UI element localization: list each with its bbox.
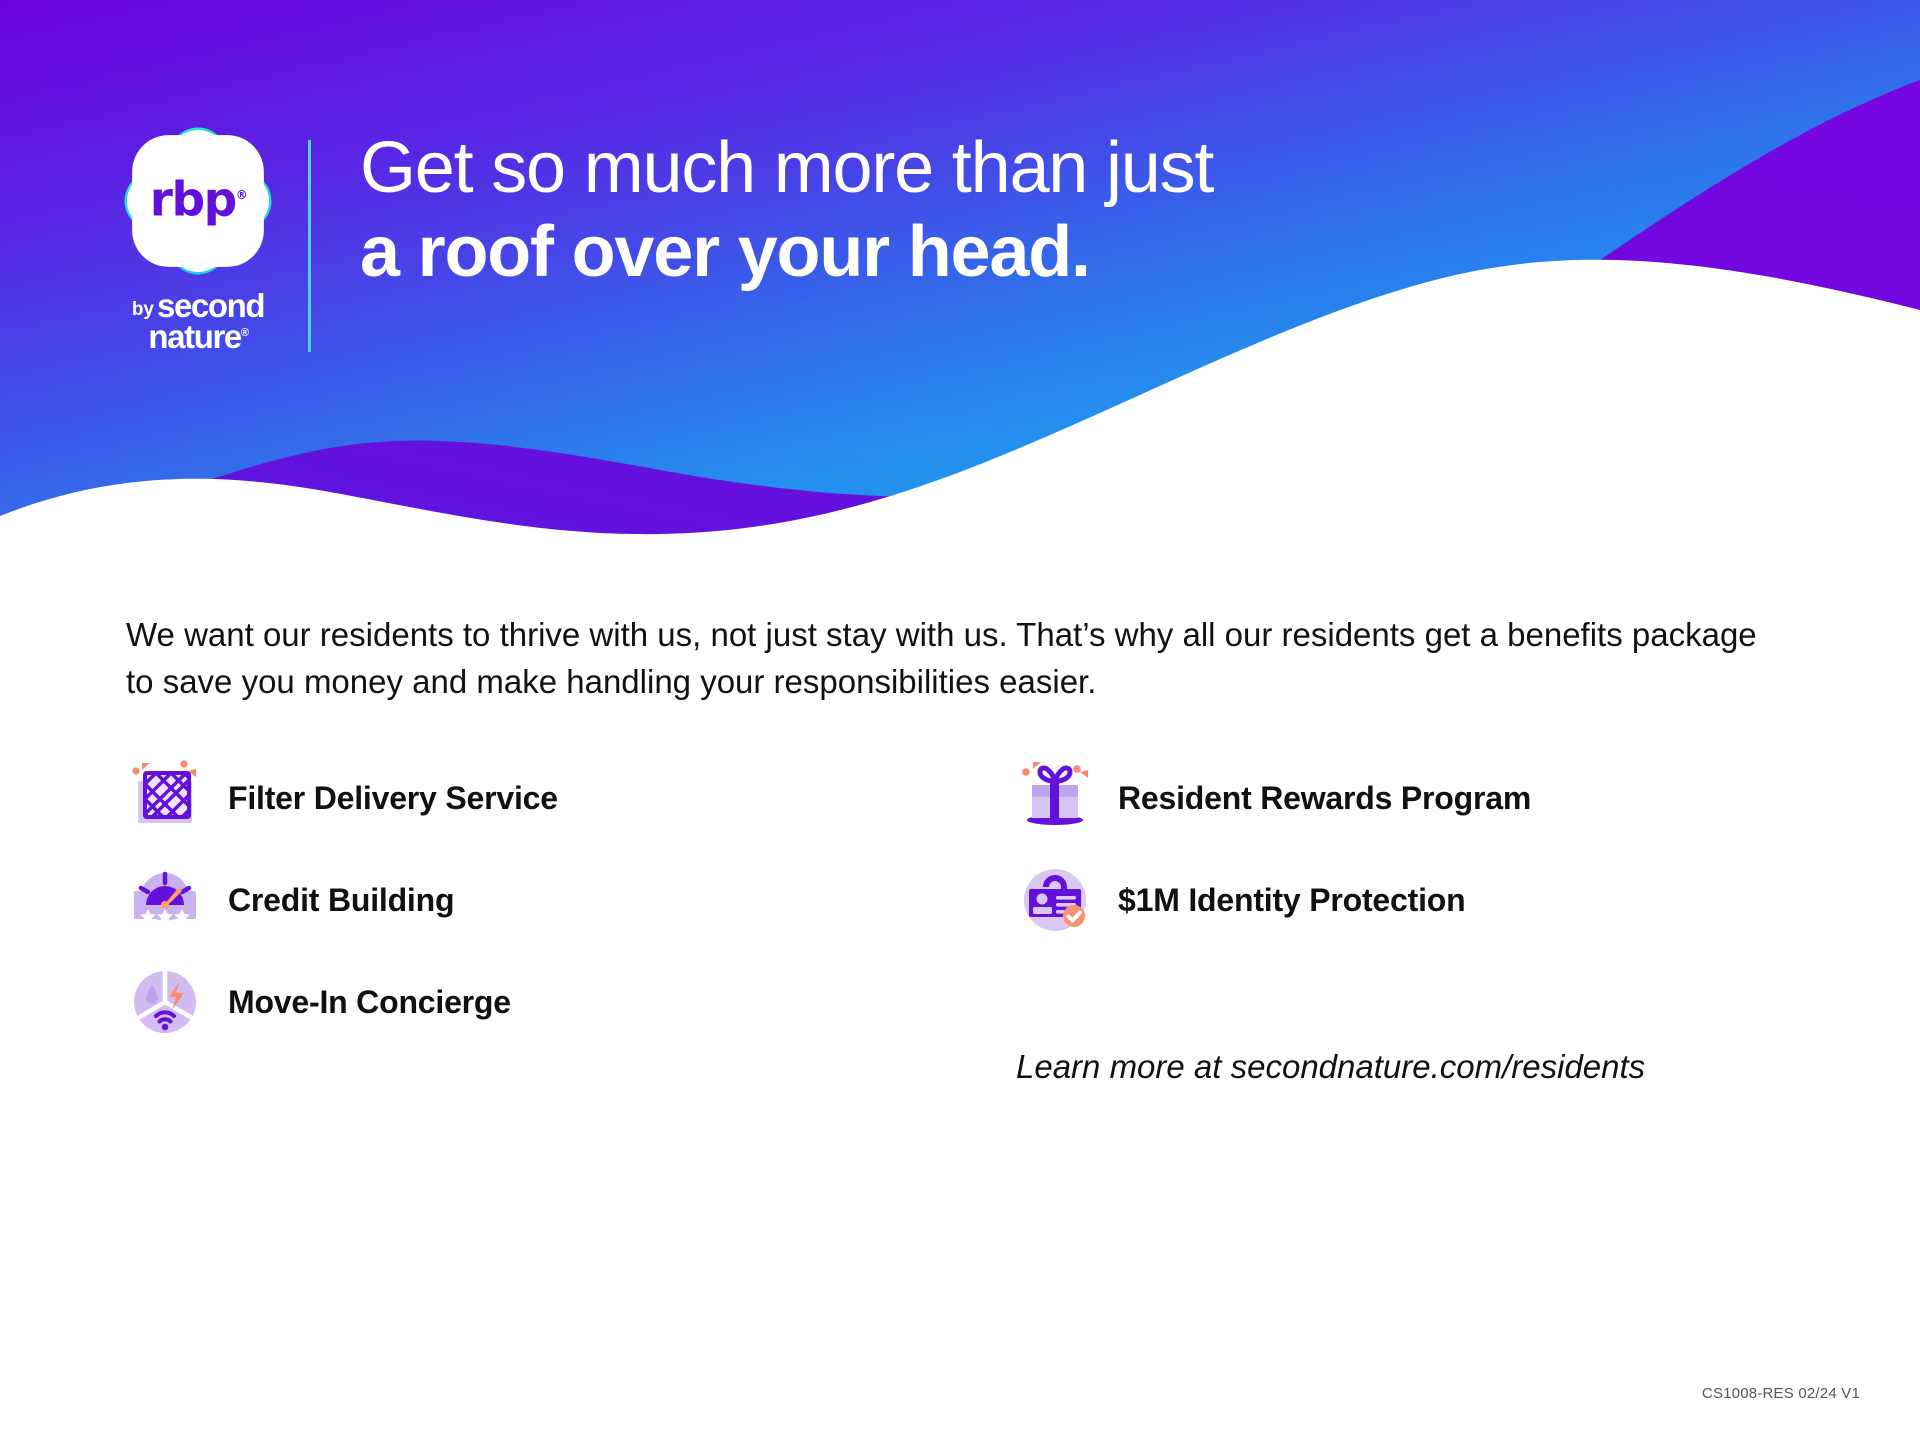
credit-gauge-icon <box>126 861 204 939</box>
benefits-column-right: Resident Rewards Program $1M Identity Pr… <box>1016 748 1531 952</box>
benefit-label: Filter Delivery Service <box>228 780 558 817</box>
rbp-logo: rbp® bysecond nature® <box>118 125 278 355</box>
benefits-column-left: Filter Delivery Service <box>126 748 558 1054</box>
logo-registered-mark: ® <box>236 188 247 202</box>
headline-line-1: Get so much more than just <box>360 130 1213 206</box>
benefit-label: Resident Rewards Program <box>1118 780 1531 817</box>
benefit-label: $1M Identity Protection <box>1118 882 1465 919</box>
benefit-item: Credit Building <box>126 850 558 950</box>
benefit-item: Move-In Concierge <box>126 952 558 1052</box>
hero-headline: Get so much more than just a roof over y… <box>360 130 1213 291</box>
intro-paragraph: We want our residents to thrive with us,… <box>126 612 1766 706</box>
benefit-label: Move-In Concierge <box>228 984 511 1021</box>
logo-by-word: by <box>132 300 154 319</box>
benefit-item: $1M Identity Protection <box>1016 850 1531 950</box>
benefit-label: Credit Building <box>228 882 454 919</box>
logo-rbp-wordmark: rbp® <box>150 177 246 224</box>
learn-more-text[interactable]: Learn more at secondnature.com/residents <box>1016 1048 1645 1086</box>
air-filter-icon <box>126 759 204 837</box>
utilities-circle-icon <box>126 963 204 1041</box>
headline-line-2: a roof over your head. <box>360 214 1213 290</box>
logo-company-line2-wrap: nature® <box>118 320 278 353</box>
logo-company-registered-mark: ® <box>241 327 248 339</box>
benefit-item: Resident Rewards Program <box>1016 748 1531 848</box>
hero-banner: rbp® bysecond nature® Get so much more t… <box>0 0 1920 580</box>
logo-rbp-text: rbp <box>150 173 236 228</box>
logo-byline: bysecond nature® <box>118 289 278 353</box>
id-badge-check-icon <box>1016 861 1094 939</box>
logo-company-line2: nature <box>148 318 240 355</box>
gift-box-icon <box>1016 759 1094 837</box>
document-code: CS1008-RES 02/24 V1 <box>1702 1385 1860 1402</box>
benefit-item: Filter Delivery Service <box>126 748 558 848</box>
logo-headline-divider <box>308 140 311 352</box>
rbp-logo-mark: rbp® <box>122 125 274 277</box>
